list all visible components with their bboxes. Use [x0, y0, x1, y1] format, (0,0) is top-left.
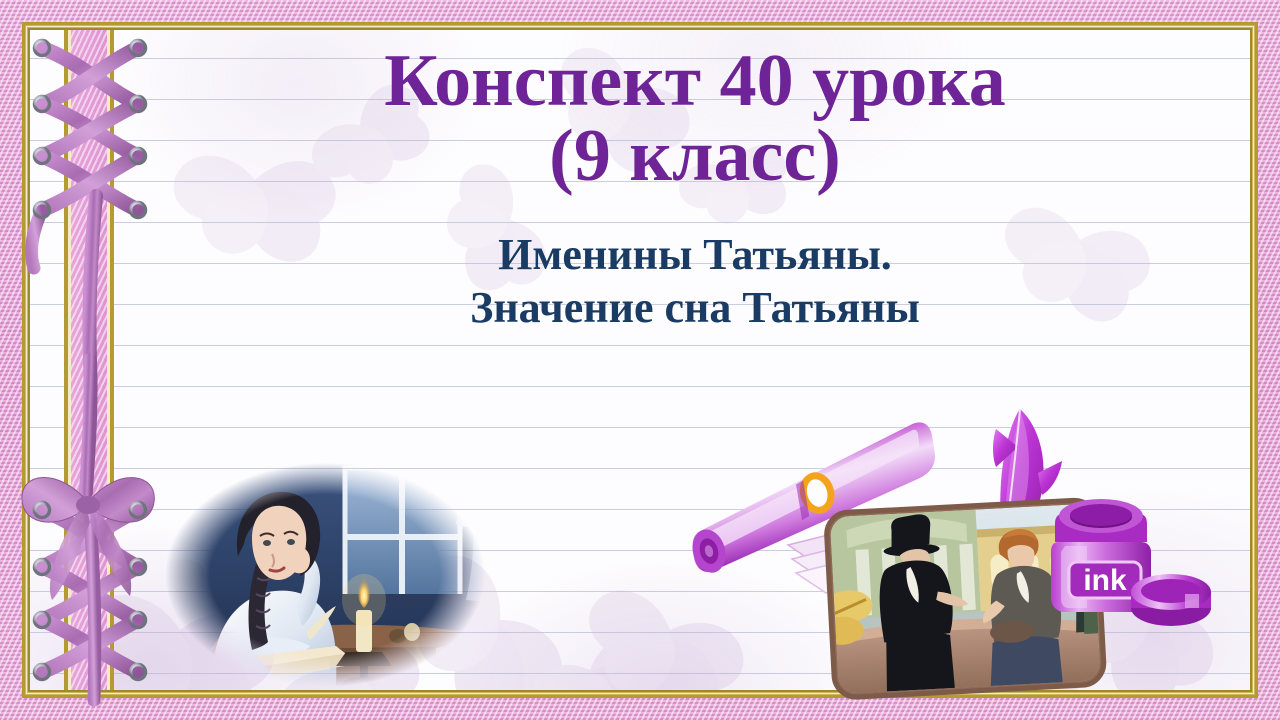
subtitle-line-2: Значение сна Татьяны: [150, 282, 1240, 335]
ink-bottle-group: ink: [1035, 480, 1215, 640]
ink-label: ink: [1083, 564, 1127, 597]
tatyana-writing-illustration: [160, 460, 490, 690]
text-block: Конспект 40 урока (9 класс) Именины Тать…: [150, 44, 1240, 335]
slide-root: Конспект 40 урока (9 класс) Именины Тать…: [0, 0, 1280, 720]
title-line-1: Конспект 40 урока: [384, 40, 1006, 122]
subtitle-line-1: Именины Татьяны.: [150, 229, 1240, 282]
ink-lid: [1131, 574, 1211, 626]
page-subtitle: Именины Татьяны. Значение сна Татьяны: [150, 229, 1240, 335]
page-title: Конспект 40 урока (9 класс): [150, 44, 1240, 195]
tatyana-scene: [160, 460, 490, 691]
title-line-2: (9 класс): [150, 119, 1240, 194]
lacing-strip: [64, 30, 114, 690]
